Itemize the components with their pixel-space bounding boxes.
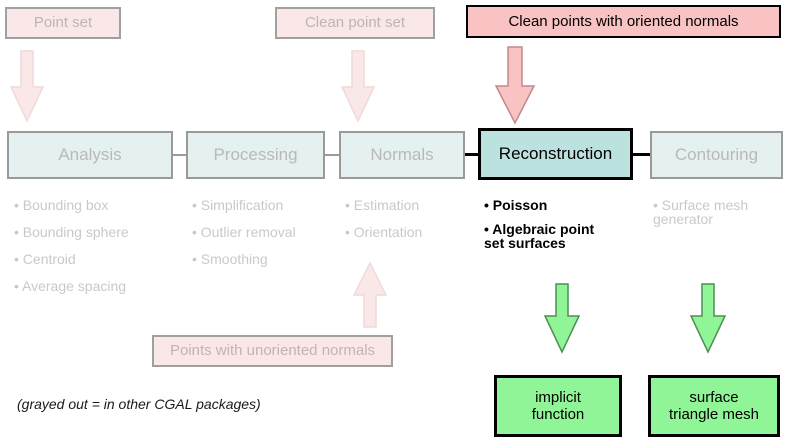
stage-box-reconstruction[interactable]: Reconstruction: [478, 128, 633, 180]
connector-processing-normals: [325, 154, 339, 156]
list-item: • Simplification: [192, 198, 337, 212]
list-item: • Outlier removal: [192, 225, 337, 239]
connector-reconstruction-contouring: [633, 153, 650, 156]
stage-label: Normals: [370, 145, 433, 165]
connector-normals-reconstruction: [465, 153, 478, 156]
arrow-reconstruction-to-implicit-function-icon: [544, 283, 580, 353]
stage-box-normals[interactable]: Normals: [339, 131, 465, 179]
data-box-label: Points with unoriented normals: [170, 342, 375, 359]
arrow-unoriented-normals-to-normals-icon: [353, 262, 387, 328]
diagram-canvas: Point set Clean point set Clean points w…: [0, 0, 790, 444]
stage-box-analysis[interactable]: Analysis: [7, 131, 173, 179]
data-box-point-set[interactable]: Point set: [5, 7, 121, 39]
stage-box-processing[interactable]: Processing: [186, 131, 325, 179]
list-item: • Smoothing: [192, 252, 337, 266]
list-item: • Surface mesh generator: [653, 198, 783, 226]
result-box-implicit-function[interactable]: implicit function: [494, 375, 622, 437]
list-item: • Centroid: [14, 252, 174, 266]
list-item: • Bounding sphere: [14, 225, 174, 239]
stage-items-reconstruction: • Poisson • Algebraic point set surfaces: [484, 198, 634, 260]
connector-analysis-processing: [173, 154, 186, 156]
legend-footnote: (grayed out = in other CGAL packages): [17, 396, 261, 412]
data-box-points-with-unoriented-normals[interactable]: Points with unoriented normals: [152, 335, 393, 367]
list-item: • Average spacing: [14, 279, 174, 293]
arrow-point-set-to-analysis-icon: [10, 50, 44, 122]
list-item: • Algebraic point set surfaces: [484, 222, 634, 250]
list-item: • Bounding box: [14, 198, 174, 212]
stage-items-normals: • Estimation • Orientation: [345, 198, 465, 252]
data-box-label: Clean point set: [305, 14, 405, 31]
arrow-contouring-to-surface-mesh-icon: [690, 283, 726, 353]
result-label: surface triangle mesh: [669, 389, 759, 424]
result-box-surface-triangle-mesh[interactable]: surface triangle mesh: [648, 375, 780, 437]
stage-label: Contouring: [675, 145, 758, 165]
data-box-label: Clean points with oriented normals: [508, 13, 738, 30]
list-item: • Estimation: [345, 198, 465, 212]
stage-items-processing: • Simplification • Outlier removal • Smo…: [192, 198, 337, 279]
data-box-clean-points-with-oriented-normals[interactable]: Clean points with oriented normals: [466, 5, 781, 38]
stage-items-contouring: • Surface mesh generator: [653, 198, 783, 239]
stage-label: Reconstruction: [499, 144, 612, 164]
data-box-clean-point-set[interactable]: Clean point set: [275, 7, 435, 39]
result-label: implicit function: [532, 389, 585, 424]
arrow-clean-point-set-to-normals-icon: [341, 50, 375, 122]
stage-box-contouring[interactable]: Contouring: [650, 131, 783, 179]
arrow-oriented-normals-to-reconstruction-icon: [495, 46, 535, 124]
stage-label: Processing: [213, 145, 297, 165]
stage-items-analysis: • Bounding box • Bounding sphere • Centr…: [14, 198, 174, 306]
list-item: • Poisson: [484, 198, 634, 212]
stage-label: Analysis: [58, 145, 121, 165]
list-item: • Orientation: [345, 225, 465, 239]
data-box-label: Point set: [34, 14, 92, 31]
